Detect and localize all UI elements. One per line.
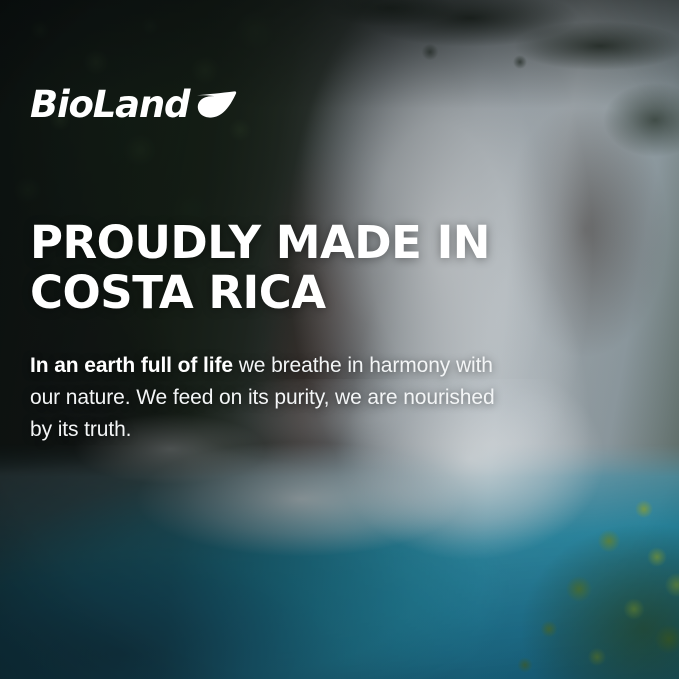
body-copy: In an earth full of life we breathe in h…: [30, 350, 500, 446]
headline-line-1: PROUDLY MADE IN: [30, 218, 490, 268]
brand-logo-wordmark: BioLand: [30, 86, 189, 123]
headline-line-2: COSTA RICA: [30, 268, 490, 318]
body-copy-lead: In an earth full of life: [30, 354, 233, 377]
banner-content: BioLand PROUDLY MADE IN COSTA RICA In an…: [0, 0, 679, 679]
brand-logo: BioLand: [30, 86, 237, 123]
brand-banner: BioLand PROUDLY MADE IN COSTA RICA In an…: [0, 0, 679, 679]
page-title: PROUDLY MADE IN COSTA RICA: [30, 218, 490, 319]
leaf-icon: [195, 90, 237, 120]
